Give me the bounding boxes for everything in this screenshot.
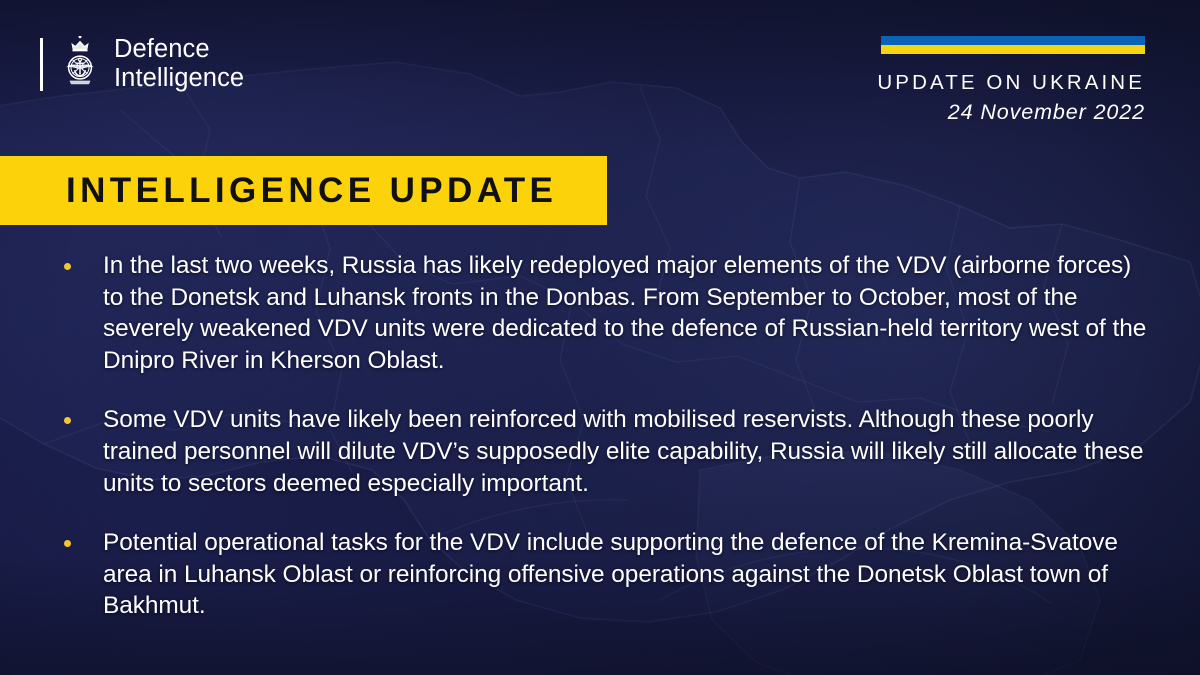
- intelligence-update-banner: INTELLIGENCE UPDATE: [0, 156, 607, 225]
- list-item: In the last two weeks, Russia has likely…: [0, 250, 1150, 376]
- list-item: Some VDV units have likely been reinforc…: [0, 404, 1150, 499]
- bullet-text: Some VDV units have likely been reinforc…: [103, 404, 1150, 499]
- update-label: UPDATE ON UKRAINE: [877, 71, 1145, 95]
- list-item: Potential operational tasks for the VDV …: [0, 527, 1150, 622]
- bullet-text: Potential operational tasks for the VDV …: [103, 527, 1150, 622]
- update-header-block: UPDATE ON UKRAINE 24 November 2022: [877, 36, 1145, 125]
- defence-intelligence-brand: Defence Intelligence: [40, 33, 244, 95]
- brand-wordmark: Defence Intelligence: [114, 35, 244, 93]
- bullet-dot-icon: [64, 417, 71, 424]
- update-date: 24 November 2022: [877, 100, 1145, 125]
- intelligence-update-poster: Defence Intelligence UPDATE ON UKRAINE 2…: [0, 0, 1200, 675]
- page-title: INTELLIGENCE UPDATE: [66, 171, 557, 211]
- brand-line-intelligence: Intelligence: [114, 64, 244, 93]
- ukraine-flag-bar-icon: [881, 36, 1145, 54]
- brand-divider: [40, 38, 43, 91]
- bullet-list: In the last two weeks, Russia has likely…: [0, 250, 1150, 622]
- bullet-dot-icon: [64, 263, 71, 270]
- bullet-text: In the last two weeks, Russia has likely…: [103, 250, 1150, 376]
- brand-line-defence: Defence: [114, 35, 244, 64]
- flag-stripe-blue: [881, 36, 1145, 45]
- bullet-dot-icon: [64, 540, 71, 547]
- mod-crest-icon: [60, 36, 100, 92]
- flag-stripe-yellow: [881, 45, 1145, 54]
